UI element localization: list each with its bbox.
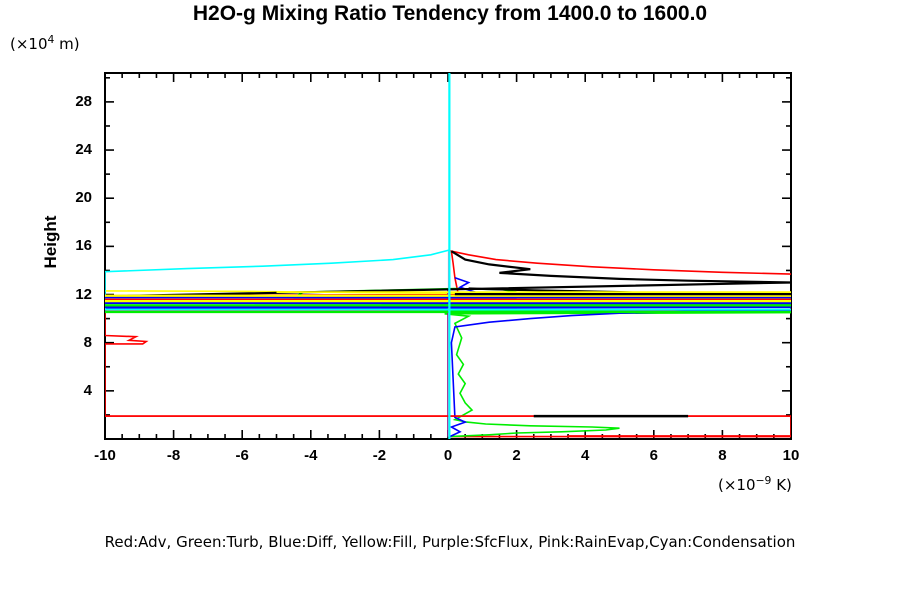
x-tick-label: -4 [289,447,333,464]
x-tick-label: 8 [700,447,744,464]
x-tick-label: -6 [220,447,264,464]
x-tick-label: -10 [83,447,127,464]
y-tick-label: 12 [52,286,92,303]
y-tick-label: 16 [52,237,92,254]
x-tick-label: -2 [357,447,401,464]
chart-root: H2O-g Mixing Ratio Tendency from 1400.0 … [0,0,900,600]
x-tick-label: 6 [632,447,676,464]
curve-layer [0,0,900,600]
y-tick-label: 24 [52,141,92,158]
legend-text: Red:Adv, Green:Turb, Blue:Diff, Yellow:F… [0,533,900,551]
y-tick-label: 8 [52,334,92,351]
x-tick-label: 4 [563,447,607,464]
y-tick-label: 20 [52,189,92,206]
x-tick-label: 0 [426,447,470,464]
y-tick-label: 4 [52,382,92,399]
x-tick-label: 10 [769,447,813,464]
y-tick-label: 28 [52,93,92,110]
x-tick-label: 2 [495,447,539,464]
data-curves [105,73,791,439]
x-tick-label: -8 [152,447,196,464]
